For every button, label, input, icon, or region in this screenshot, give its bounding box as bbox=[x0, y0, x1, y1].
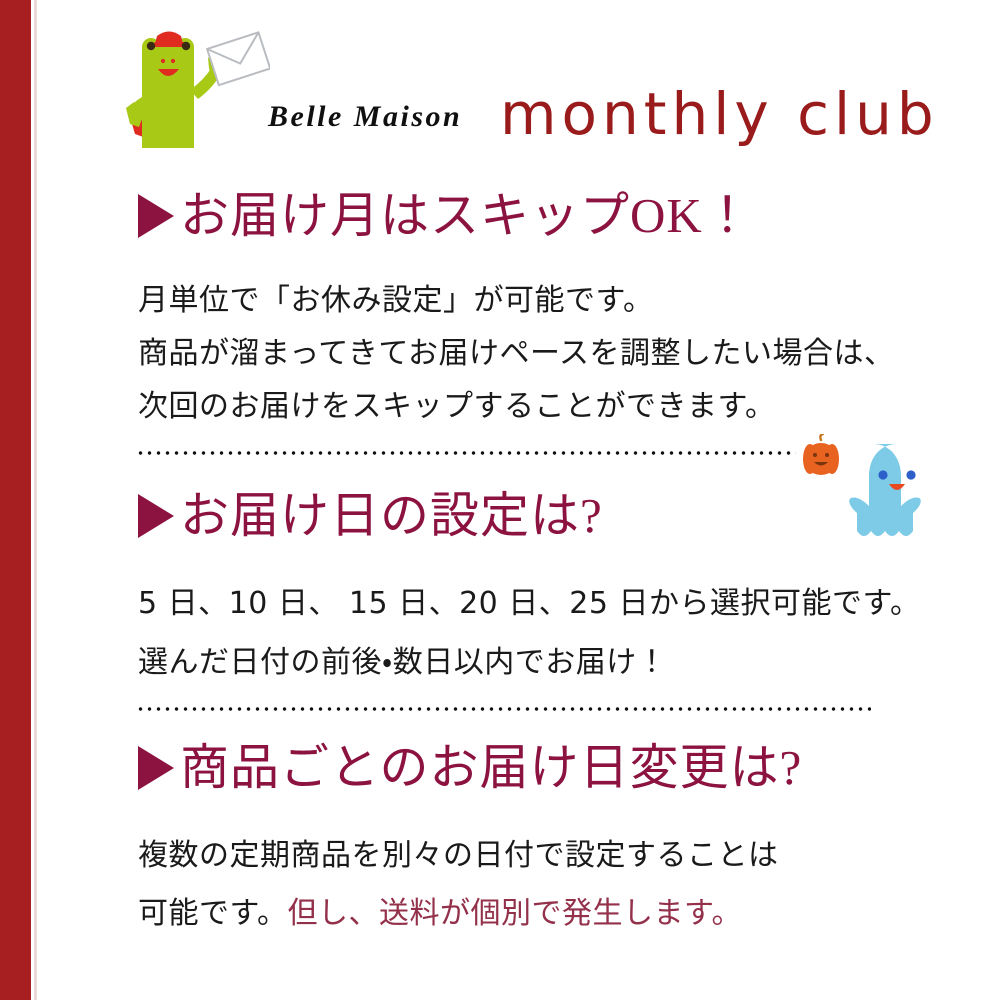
pumpkin-icon bbox=[800, 434, 842, 483]
triangle-bullet-icon bbox=[138, 746, 174, 790]
section-3-line-1: 複数の定期商品を別々の日付で設定することは bbox=[138, 830, 988, 882]
left-brand-bar bbox=[0, 0, 31, 1000]
monthly-club-info-page: Belle Maison monthly club お届け月はスキップOK！ 月… bbox=[0, 0, 1000, 1000]
section-skip-month: お届け月はスキップOK！ bbox=[138, 190, 988, 241]
page-header: Belle Maison monthly club bbox=[120, 28, 980, 158]
program-title: monthly club bbox=[500, 80, 939, 148]
section-2-heading-text: お届け日の設定は? bbox=[180, 490, 603, 541]
section-1-line-2: 商品が溜まってきてお届けペースを調整したい場合は、 bbox=[138, 328, 988, 380]
section-3-line-2-highlight: 但し、送料が個別で発生します。 bbox=[288, 896, 743, 931]
section-1-line-3: 次回のお届けをスキップすることができます。 bbox=[138, 381, 988, 433]
section-1-line-1: 月単位で「お休み設定」が可能です。 bbox=[138, 275, 988, 327]
section-2-line-1: 5 日、10 日、 15 日、20 日、25 日から選択可能です。 bbox=[138, 578, 988, 630]
section-per-item-change: 商品ごとのお届け日変更は? bbox=[138, 742, 988, 793]
section-delivery-date: お届け日の設定は? bbox=[138, 490, 988, 541]
section-3-line-2: 可能です。但し、送料が個別で発生します。 bbox=[138, 888, 988, 940]
section-3-heading: 商品ごとのお届け日変更は? bbox=[138, 742, 988, 793]
triangle-bullet-icon bbox=[138, 494, 174, 538]
section-3-heading-text: 商品ごとのお届け日変更は? bbox=[180, 742, 802, 793]
divider-2 bbox=[136, 706, 871, 712]
section-1-heading-text: お届け月はスキップOK！ bbox=[180, 190, 753, 241]
section-3-line-2-plain: 可能です。 bbox=[138, 896, 288, 931]
triangle-bullet-icon bbox=[138, 194, 174, 238]
section-2-line-2: 選んだ日付の前後・数日以内でお届け！ bbox=[138, 637, 988, 689]
section-2-heading: お届け日の設定は? bbox=[138, 490, 988, 541]
left-brand-bar-accent bbox=[34, 0, 37, 1000]
section-1-heading: お届け月はスキップOK！ bbox=[138, 190, 988, 241]
frog-mascot-with-envelope-icon bbox=[120, 28, 270, 158]
divider-1 bbox=[136, 450, 796, 456]
brand-script-name: Belle Maison bbox=[268, 100, 462, 134]
